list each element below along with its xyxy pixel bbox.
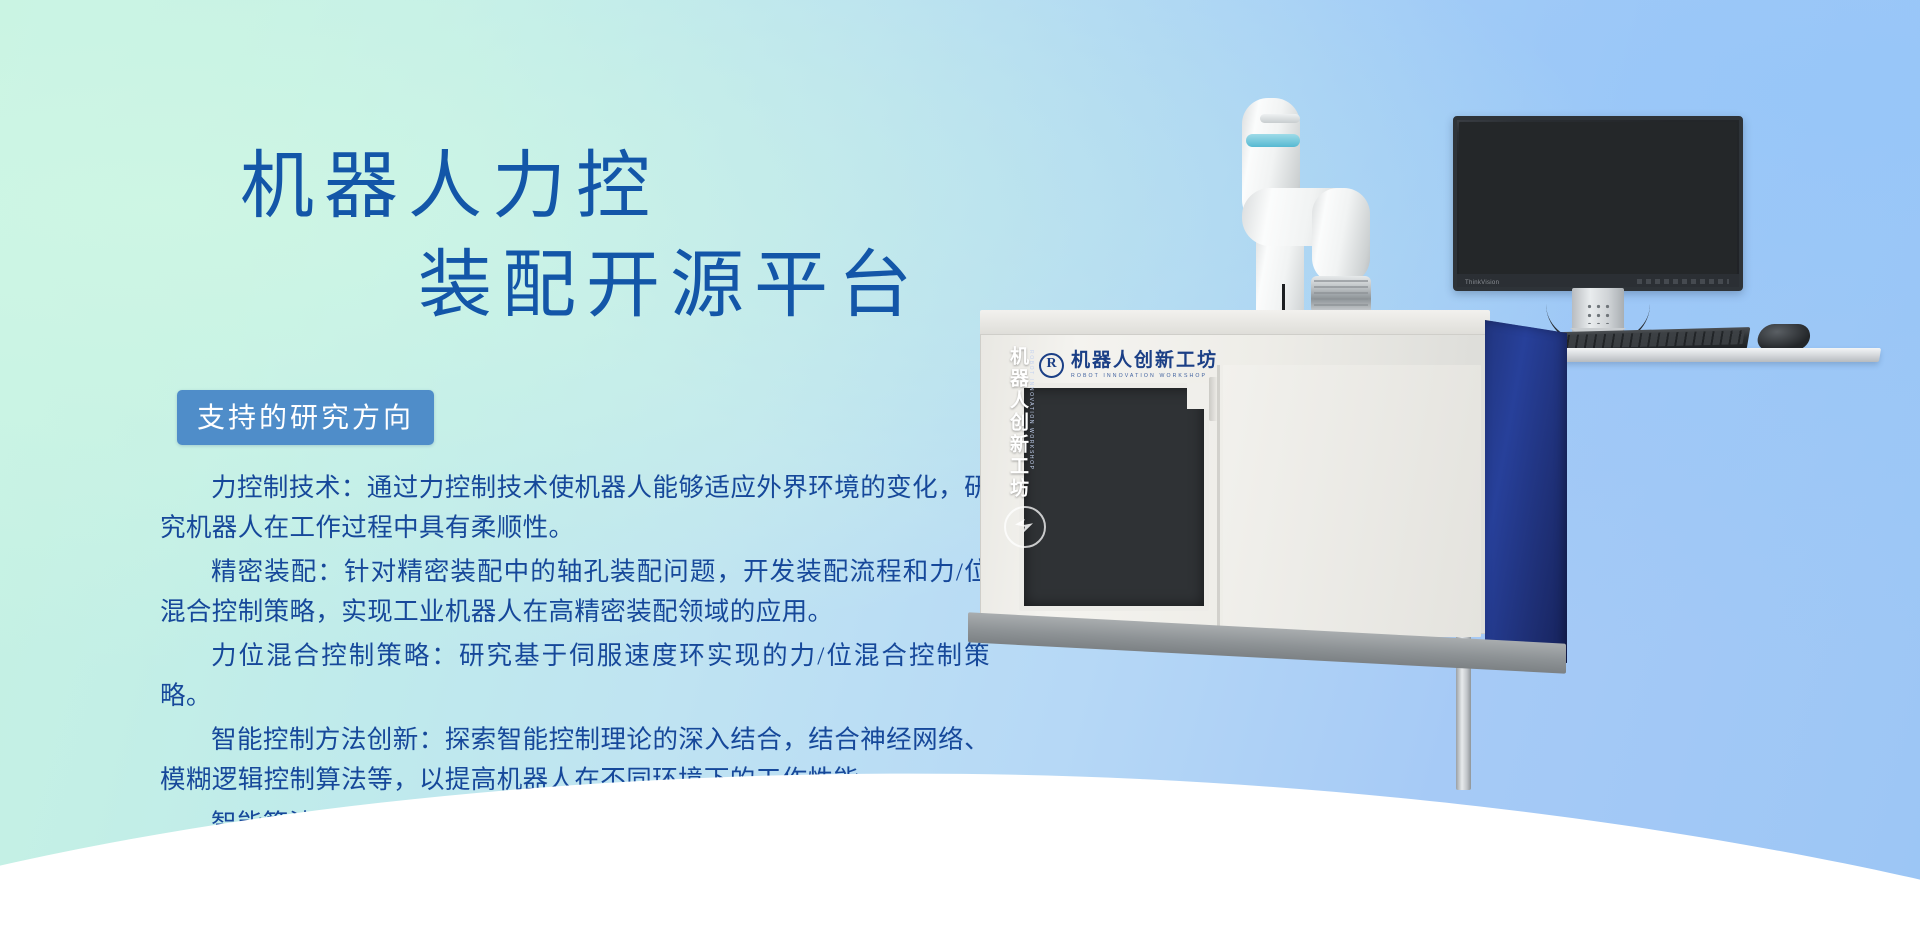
list-item: 精密装配：针对精密装配中的轴孔装配问题，开发装配流程和力/位混合控制策略，实现工… <box>160 552 990 632</box>
cabinet-logo-en: ROBOT INNOVATION WORKSHOP <box>1071 373 1218 379</box>
page-title: 机器人力控 装配开源平台 <box>240 138 922 336</box>
cabinet-side-panel <box>1485 320 1567 663</box>
list-item: 力位混合控制策略：研究基于伺服速度环实现的力/位混合控制策略。 <box>160 636 990 716</box>
cabinet-door-seam <box>1217 365 1220 635</box>
monitor-bezel: ThinkVision <box>1457 274 1739 287</box>
hero-banner: 机器人力控 装配开源平台 支持的研究方向 力控制技术：通过力控制技术使机器人能够… <box>0 0 1920 937</box>
arm-segment-wrist <box>1312 188 1370 284</box>
mouse <box>1756 324 1813 350</box>
cabinet-window-door <box>1019 383 1209 611</box>
robot-logo-icon <box>1039 353 1064 378</box>
workstation-cabinet: 机器人创新工坊 ROBOT INNOVATION WORKSHOP 机器人创新工… <box>980 310 1540 655</box>
title-line-1: 机器人力控 <box>240 146 660 228</box>
monitor-screen <box>1459 122 1737 274</box>
monitor-display: ThinkVision <box>1453 116 1743 291</box>
cabinet-body: 机器人创新工坊 ROBOT INNOVATION WORKSHOP <box>980 334 1490 634</box>
cabinet-door-right <box>1223 365 1481 637</box>
side-panel-logo-icon <box>1004 506 1046 548</box>
arm-top-cap <box>1260 114 1300 123</box>
list-item: 力控制技术：通过力控制技术使机器人能够适应外界环境的变化，研究机器人在工作过程中… <box>160 468 990 548</box>
cabinet-logo: 机器人创新工坊 ROBOT INNOVATION WORKSHOP <box>1039 351 1218 379</box>
cabinet-logo-cn: 机器人创新工坊 <box>1071 351 1218 370</box>
title-line-2: 装配开源平台 <box>418 237 922 336</box>
mount-holes <box>1585 302 1611 324</box>
arm-accent-ring <box>1246 134 1300 147</box>
product-photo: ThinkVision <box>980 60 1860 820</box>
side-panel-text-en: ROBOT INNOVATION WORKSHOP <box>1028 350 1034 471</box>
side-panel-text: 机器人创新工坊 <box>1004 346 1031 500</box>
monitor-ports <box>1637 279 1729 284</box>
bottom-wave-decoration <box>0 757 1920 937</box>
status-badge: 支持的研究方向 <box>177 390 434 445</box>
monitor-brand-label: ThinkVision <box>1465 280 1499 286</box>
